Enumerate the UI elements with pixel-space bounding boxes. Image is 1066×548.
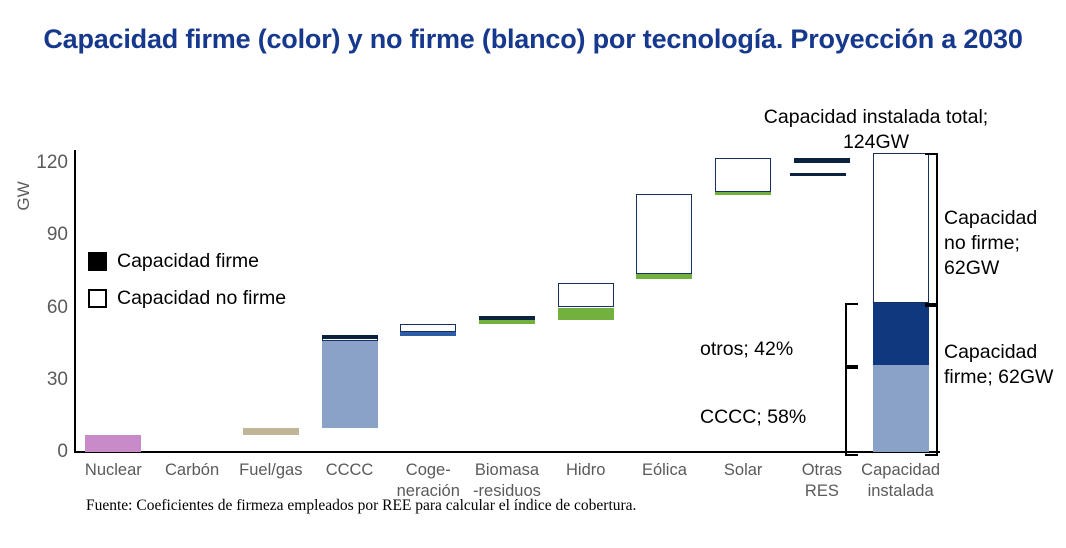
bar-segment-firme-8 — [715, 192, 771, 195]
x-label-line: Nuclear — [68, 460, 159, 481]
bar-segment-total-1 — [873, 303, 929, 366]
legend-swatch-hollow-icon — [88, 289, 107, 308]
x-label-cccc: CCCC — [304, 460, 395, 481]
x-label-line: Otras — [777, 460, 868, 481]
x-label-line: Hidro — [540, 460, 631, 481]
x-label-cogeneraci-n: Coge-neración — [383, 460, 474, 501]
x-label-line: Eólica — [619, 460, 710, 481]
x-label-line: RES — [777, 481, 868, 502]
x-label-e-lica: Eólica — [619, 460, 710, 481]
bar-segment-firme-7 — [636, 274, 692, 279]
bar-segment-total-0 — [873, 365, 929, 452]
annotation-firme: Capacidad firme; 62GW — [944, 340, 1062, 390]
x-label-capacidad-instalada: Capacidadinstalada — [855, 460, 946, 501]
bar-segment-nofirme-4 — [400, 324, 456, 331]
bar-segment-nofirme-6 — [558, 283, 614, 307]
y-tick-120: 120 — [12, 152, 68, 174]
x-label-line: CCCC — [304, 460, 395, 481]
annotation-total-installed: Capacidad instalada total; 124GW — [756, 105, 996, 155]
legend-label-no-firme: Capacidad no firme — [117, 287, 286, 310]
x-label-otras-res: OtrasRES — [777, 460, 868, 501]
legend-item-firme: Capacidad firme — [88, 250, 286, 273]
chart-legend: Capacidad firme Capacidad no firme — [88, 250, 286, 324]
bar-segment-firme-4 — [400, 332, 456, 337]
x-label-line: -residuos — [462, 481, 553, 502]
x-label-line: Carbón — [147, 460, 238, 481]
y-tick-0: 0 — [12, 441, 68, 463]
bar-segment-firme-0 — [85, 435, 141, 452]
x-label-fuel-gas: Fuel/gas — [225, 460, 316, 481]
brace-otros — [845, 303, 858, 370]
x-label-line: Biomasa — [462, 460, 553, 481]
annotation-otros-pct: otros; 42% — [700, 337, 836, 362]
brace-cccc — [845, 365, 858, 456]
bar-cap-line-3 — [322, 335, 378, 339]
x-label-nuclear: Nuclear — [68, 460, 159, 481]
x-label-line: instalada — [855, 481, 946, 502]
x-label-solar: Solar — [698, 460, 789, 481]
source-footnote: Fuente: Coeficientes de firmeza empleado… — [86, 497, 636, 515]
annotation-cccc-pct: CCCC; 58% — [700, 405, 836, 430]
x-label-line: Coge- — [383, 460, 474, 481]
leader-line-total — [790, 173, 846, 176]
bar-segment-total-2 — [873, 153, 929, 302]
x-label-line: neración — [383, 481, 474, 502]
y-tick-30: 30 — [12, 369, 68, 391]
legend-item-no-firme: Capacidad no firme — [88, 287, 286, 310]
bar-segment-firme-3 — [322, 341, 378, 428]
annotation-no-firme: Capacidad no firme; 62GW — [944, 206, 1062, 281]
chart-title: Capacidad firme (color) y no firme (blan… — [0, 22, 1066, 58]
brace-firme — [925, 303, 938, 456]
x-label-line: Solar — [698, 460, 789, 481]
bar-marker-otras-res — [794, 158, 850, 163]
legend-label-firme: Capacidad firme — [117, 250, 259, 273]
y-tick-90: 90 — [12, 224, 68, 246]
brace-no-firme — [925, 153, 938, 306]
x-label-carb-n: Carbón — [147, 460, 238, 481]
x-label-line: Fuel/gas — [225, 460, 316, 481]
legend-swatch-filled-icon — [88, 252, 107, 271]
bar-segment-firme-5 — [479, 320, 535, 325]
bar-segment-firme-6 — [558, 308, 614, 320]
x-label-hidro: Hidro — [540, 460, 631, 481]
bar-cap-line-5 — [479, 316, 535, 320]
bar-segment-firme-2 — [243, 428, 299, 435]
bar-segment-nofirme-8 — [715, 158, 771, 192]
y-tick-60: 60 — [12, 297, 68, 319]
x-label-line: Capacidad — [855, 460, 946, 481]
x-label-biomasa-residuos: Biomasa-residuos — [462, 460, 553, 501]
y-axis-ticks: 0306090120 — [8, 0, 68, 548]
bar-segment-nofirme-7 — [636, 194, 692, 273]
